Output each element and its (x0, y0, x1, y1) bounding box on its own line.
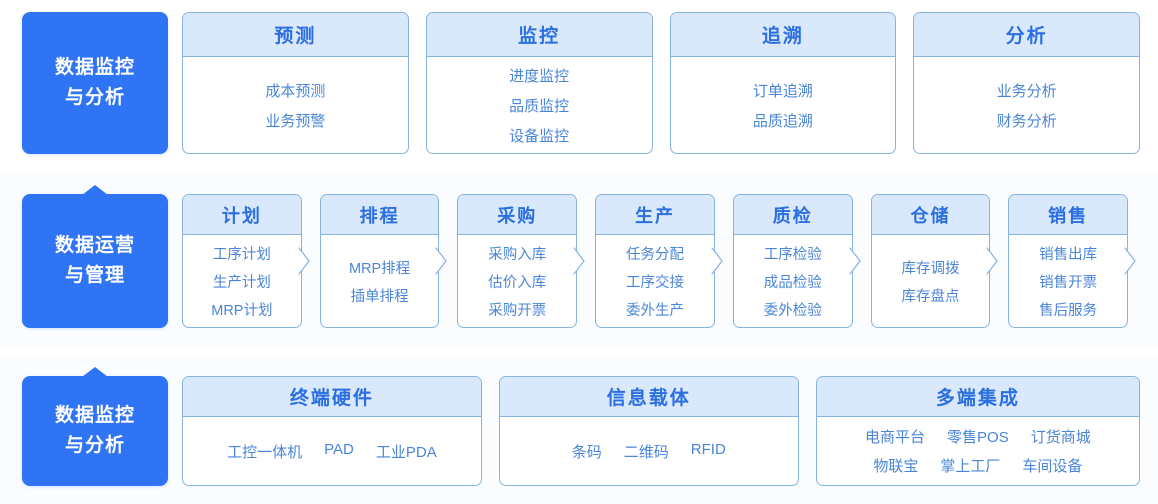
card-body-monitoring: 进度监控 品质监控 设备监控 (427, 57, 652, 153)
pointer-triangle-icon (82, 185, 108, 195)
list-item-row: 物联宝 掌上工厂 车间设备 (873, 455, 1082, 476)
list-item[interactable]: 财务分析 (997, 110, 1057, 131)
list-item[interactable]: 任务分配 (626, 243, 684, 264)
list-item[interactable]: 生产计划 (213, 271, 271, 292)
list-item[interactable]: 销售出库 (1039, 243, 1097, 264)
section-label-monitor-analysis[interactable]: 数据监控 与分析 (22, 12, 168, 154)
list-item[interactable]: 工业PDA (376, 441, 437, 462)
card-body-terminal-hardware: 工控一体机 PAD 工业PDA (183, 417, 481, 485)
card-body-warehousing: 库存调拨 库存盘点 (872, 235, 990, 327)
section-label-line-1: 数据监控 (55, 401, 135, 431)
card-quality-inspection[interactable]: 质检 工序检验 成品检验 委外检验 (733, 194, 853, 328)
card-monitoring[interactable]: 监控 进度监控 品质监控 设备监控 (426, 12, 653, 154)
list-item[interactable]: 掌上工厂 (940, 455, 1000, 476)
card-title-multi-terminal-integration: 多端集成 (817, 377, 1139, 417)
card-body-information-carrier: 条码 二维码 RFID (500, 417, 798, 485)
card-production[interactable]: 生产 任务分配 工序交接 委外生产 (595, 194, 715, 328)
card-title-analysis: 分析 (914, 13, 1139, 57)
list-item[interactable]: 库存盘点 (901, 285, 959, 306)
list-item[interactable]: 业务分析 (997, 80, 1057, 101)
card-sales[interactable]: 销售 销售出库 销售开票 售后服务 (1008, 194, 1128, 328)
list-item[interactable]: 估价入库 (488, 271, 546, 292)
list-item[interactable]: 采购入库 (488, 243, 546, 264)
list-item[interactable]: PAD (324, 441, 354, 462)
list-item[interactable]: 二维码 (624, 441, 669, 462)
list-item-row: 电商平台 零售POS 订货商城 (865, 426, 1091, 447)
section-monitor-analysis: 数据监控 与分析 预测 成本预测 业务预警 监控 进度监控 品质监控 设备监控 (0, 0, 1158, 166)
list-item[interactable]: 品质监控 (509, 95, 569, 116)
list-item[interactable]: 委外生产 (626, 299, 684, 320)
card-information-carrier[interactable]: 信息载体 条码 二维码 RFID (499, 376, 799, 486)
card-title-forecast: 预测 (183, 13, 408, 57)
card-title-terminal-hardware: 终端硬件 (183, 377, 481, 417)
pointer-triangle-icon (82, 367, 108, 377)
section-label-data-collection[interactable]: 数据监控 与分析 (22, 376, 168, 486)
card-body-scheduling: MRP排程 插单排程 (321, 235, 439, 327)
list-item[interactable]: MRP排程 (349, 257, 410, 278)
list-item[interactable]: 条码 (572, 441, 602, 462)
card-title-purchasing: 采购 (458, 195, 576, 235)
card-body-purchasing: 采购入库 估价入库 采购开票 (458, 235, 576, 327)
list-item[interactable]: 库存调拨 (901, 257, 959, 278)
list-item[interactable]: 售后服务 (1039, 299, 1097, 320)
card-plan[interactable]: 计划 工序计划 生产计划 MRP计划 (182, 194, 302, 328)
list-item[interactable]: 委外检验 (764, 299, 822, 320)
card-title-scheduling: 排程 (321, 195, 439, 235)
card-list-data-collection: 终端硬件 工控一体机 PAD 工业PDA 信息载体 条码 二维码 RFID (168, 358, 1158, 504)
card-title-production: 生产 (596, 195, 714, 235)
card-body-quality-inspection: 工序检验 成品检验 委外检验 (734, 235, 852, 327)
section-label-operation-management[interactable]: 数据运营 与管理 (22, 194, 168, 328)
card-title-warehousing: 仓储 (872, 195, 990, 235)
list-item[interactable]: 工控一体机 (227, 441, 302, 462)
card-body-traceability: 订单追溯 品质追溯 (671, 57, 896, 153)
list-item-row: 条码 二维码 RFID (572, 441, 726, 462)
card-list-monitor-analysis: 预测 成本预测 业务预警 监控 进度监控 品质监控 设备监控 追溯 订单追溯 (168, 0, 1158, 166)
list-item[interactable]: 进度监控 (509, 65, 569, 86)
card-title-monitoring: 监控 (427, 13, 652, 57)
card-title-quality-inspection: 质检 (734, 195, 852, 235)
card-list-operation-management: 计划 工序计划 生产计划 MRP计划 排程 MRP排程 插单排程 (168, 172, 1158, 350)
list-item[interactable]: 车间设备 (1022, 455, 1082, 476)
card-title-traceability: 追溯 (671, 13, 896, 57)
card-body-forecast: 成本预测 业务预警 (183, 57, 408, 153)
card-body-multi-terminal-integration: 电商平台 零售POS 订货商城 物联宝 掌上工厂 车间设备 (817, 417, 1139, 485)
list-item[interactable]: 零售POS (947, 426, 1009, 447)
section-operation-management: 数据运营 与管理 计划 工序计划 生产计划 MRP计划 排程 MRP排程 插 (0, 172, 1158, 350)
card-multi-terminal-integration[interactable]: 多端集成 电商平台 零售POS 订货商城 物联宝 掌上工厂 车间设备 (816, 376, 1140, 486)
list-item[interactable]: 工序交接 (626, 271, 684, 292)
card-body-sales: 销售出库 销售开票 售后服务 (1009, 235, 1127, 327)
section-data-collection: 数据监控 与分析 终端硬件 工控一体机 PAD 工业PDA 信息载体 条 (0, 358, 1158, 504)
list-item[interactable]: 品质追溯 (753, 110, 813, 131)
card-traceability[interactable]: 追溯 订单追溯 品质追溯 (670, 12, 897, 154)
card-scheduling[interactable]: 排程 MRP排程 插单排程 (320, 194, 440, 328)
list-item[interactable]: 设备监控 (509, 125, 569, 146)
diagram-root: 数据监控 与分析 预测 成本预测 业务预警 监控 进度监控 品质监控 设备监控 (0, 0, 1158, 504)
list-item[interactable]: 成本预测 (265, 80, 325, 101)
card-forecast[interactable]: 预测 成本预测 业务预警 (182, 12, 409, 154)
card-terminal-hardware[interactable]: 终端硬件 工控一体机 PAD 工业PDA (182, 376, 482, 486)
card-body-analysis: 业务分析 财务分析 (914, 57, 1139, 153)
list-item[interactable]: 工序计划 (213, 243, 271, 264)
section-label-line-2: 与管理 (65, 261, 125, 291)
card-purchasing[interactable]: 采购 采购入库 估价入库 采购开票 (457, 194, 577, 328)
list-item[interactable]: 销售开票 (1039, 271, 1097, 292)
list-item[interactable]: 采购开票 (488, 299, 546, 320)
list-item[interactable]: 工序检验 (764, 243, 822, 264)
section-label-line-2: 与分析 (65, 83, 125, 113)
list-item[interactable]: 订货商城 (1031, 426, 1091, 447)
list-item[interactable]: 插单排程 (351, 285, 409, 306)
list-item[interactable]: 订单追溯 (753, 80, 813, 101)
list-item[interactable]: 电商平台 (865, 426, 925, 447)
list-item[interactable]: 业务预警 (265, 110, 325, 131)
card-title-information-carrier: 信息载体 (500, 377, 798, 417)
list-item[interactable]: 成品检验 (764, 271, 822, 292)
card-body-production: 任务分配 工序交接 委外生产 (596, 235, 714, 327)
list-item[interactable]: 物联宝 (873, 455, 918, 476)
list-item[interactable]: RFID (691, 441, 726, 462)
section-label-line-2: 与分析 (65, 431, 125, 461)
list-item-row: 工控一体机 PAD 工业PDA (227, 441, 437, 462)
card-warehousing[interactable]: 仓储 库存调拨 库存盘点 (871, 194, 991, 328)
section-label-line-1: 数据监控 (55, 53, 135, 83)
card-title-plan: 计划 (183, 195, 301, 235)
card-title-sales: 销售 (1009, 195, 1127, 235)
card-body-plan: 工序计划 生产计划 MRP计划 (183, 235, 301, 327)
list-item[interactable]: MRP计划 (211, 299, 272, 320)
section-label-line-1: 数据运营 (55, 231, 135, 261)
card-analysis[interactable]: 分析 业务分析 财务分析 (913, 12, 1140, 154)
